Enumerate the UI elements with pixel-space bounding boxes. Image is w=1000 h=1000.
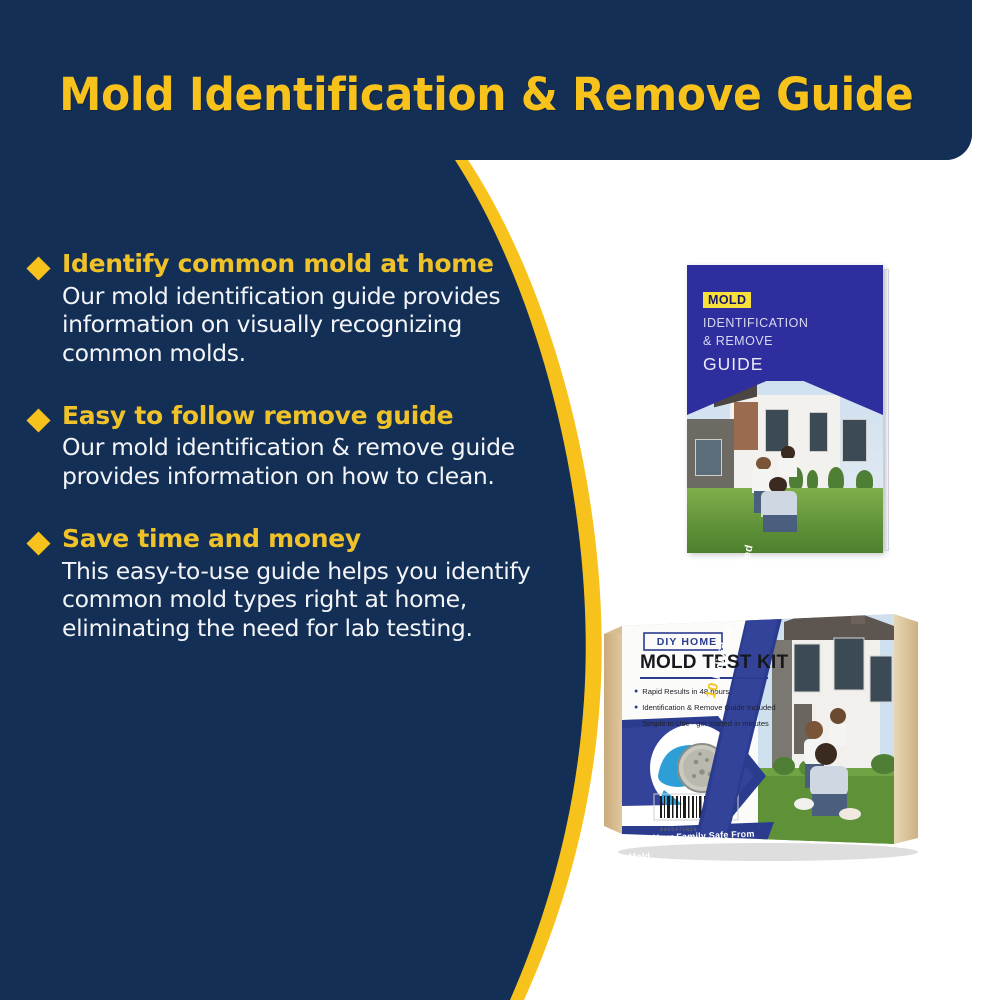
booklet-line-3: & REMOVE [703,332,808,350]
kit-bullet-text: Simple to Use - get started in minutes [642,718,769,729]
booklet-line-2: IDENTIFICATION [703,314,808,332]
diamond-bullet-icon [26,408,50,432]
kit-footer-text: Keep Your Family Safe From Mold [628,829,755,862]
header-bar: Mold Identification & Remove Guide [0,28,972,160]
feature-list: Identify common mold at home Our mold id… [0,250,560,677]
feature-item: Identify common mold at home Our mold id… [0,250,560,368]
feature-item: Easy to follow remove guide Our mold ide… [0,402,560,491]
feature-title: Identify common mold at home [62,250,560,279]
kit-bullet-dot-icon: ● [634,718,638,729]
feature-body: This easy-to-use guide helps you identif… [62,557,532,643]
feature-body: Our mold identification guide provides i… [62,282,532,368]
feature-body: Our mold identification & remove guide p… [62,433,532,490]
booklet-cover: MOLD IDENTIFICATION & REMOVE GUIDE [687,265,883,553]
page-title: Mold Identification & Remove Guide [59,68,913,121]
kit-bullet-dot-icon: ● [634,702,638,713]
booklet-badge: MOLD [703,292,751,308]
kit-footer-wrap: Keep Your Family Safe From Mold [627,823,768,865]
infographic-canvas: Mold Identification & Remove Guide Ident… [0,0,1000,1000]
kit-bullet-dot-icon: ● [634,686,638,697]
feature-item: Save time and money This easy-to-use gui… [0,525,560,643]
kit-bullet: ● Simple to Use - get started in minutes [634,718,779,729]
kit-eyebrow: DIY HOME [657,636,718,648]
guide-booklet-image: MOLD IDENTIFICATION & REMOVE GUIDE [687,265,883,553]
diamond-bullet-icon [26,531,50,555]
diamond-bullet-icon [26,256,50,280]
booklet-cover-text: MOLD IDENTIFICATION & REMOVE GUIDE [703,291,808,375]
kit-bullet-text: Identification & Remove Guide Included [642,702,775,713]
mold-test-kit-box-image: DIY HOME MOLD TEST KIT ● Rapid Results i… [598,600,938,865]
kit-bullet: ● Identification & Remove Guide Included [634,702,779,713]
feature-title: Easy to follow remove guide [62,402,560,431]
feature-title: Save time and money [62,525,560,554]
booklet-line-4: GUIDE [703,354,808,375]
kit-title-rule [640,677,768,679]
